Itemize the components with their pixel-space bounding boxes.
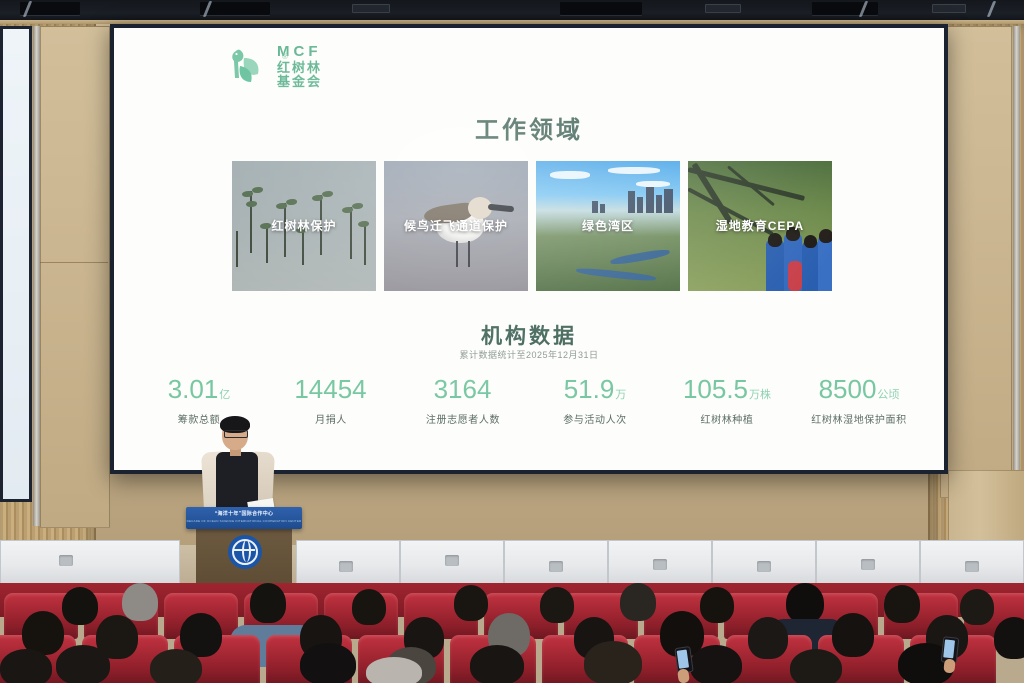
stage-front-panel xyxy=(712,540,816,586)
podium-sign-subtext: DECADE OF OCEAN SCIENCE INTERNATIONAL CO… xyxy=(186,519,302,523)
audience-head xyxy=(366,657,422,683)
audience-head xyxy=(584,641,642,683)
card-caption: 红树林保护 xyxy=(232,217,376,234)
audience-head xyxy=(994,617,1024,659)
stats-row: 3.01亿 筹款总额 14454 月捐人 3164 注册志愿者人数 51.9万 … xyxy=(142,376,916,426)
stat-value: 3164 xyxy=(434,374,492,404)
stat-item: 8500公顷 红树林湿地保护面积 xyxy=(803,376,915,426)
audience-head xyxy=(832,613,874,657)
wall-door-right xyxy=(940,26,1012,498)
audience-head xyxy=(786,583,824,623)
card-mangrove-protection: 红树林保护 xyxy=(232,161,376,291)
audience-head xyxy=(300,643,356,683)
audience-head xyxy=(748,617,788,659)
audience-head xyxy=(250,583,286,623)
card-wetland-education-cepa: 湿地教育CEPA xyxy=(688,161,832,291)
speaker-glasses xyxy=(224,430,248,438)
audience-head xyxy=(150,649,202,683)
audience-head xyxy=(690,645,742,683)
stat-item: 51.9万 参与活动人次 xyxy=(539,376,651,426)
mcf-logo: ® MCF 红树林 基金会 xyxy=(222,44,322,90)
auditorium-photo: ® MCF 红树林 基金会 工作领域 xyxy=(0,0,1024,683)
slide-title: 工作领域 xyxy=(114,110,944,145)
audience xyxy=(0,583,1024,683)
stat-label: 月捐人 xyxy=(275,411,387,426)
stage-front-panel xyxy=(504,540,608,586)
card-caption: 绿色湾区 xyxy=(536,217,680,234)
audience-head xyxy=(352,589,386,625)
stat-value: 3.01 xyxy=(168,374,219,404)
stat-label: 注册志愿者人数 xyxy=(407,411,519,426)
audience-head xyxy=(790,649,842,683)
podium-sign-panel: “海洋十年”国际合作中心 DECADE OF OCEAN SCIENCE INT… xyxy=(186,507,302,529)
audience-head xyxy=(620,583,656,621)
logo-text-cn-line2: 基金会 xyxy=(277,75,322,90)
card-caption: 候鸟迁飞通道保护 xyxy=(384,217,528,234)
stat-unit: 亿 xyxy=(219,389,230,401)
stage-front-panel xyxy=(0,540,180,586)
audience-head xyxy=(960,589,994,625)
audience-head xyxy=(700,587,734,623)
stage-front-panel xyxy=(296,540,400,586)
door-metal-strip xyxy=(33,26,40,526)
stat-item: 3164 注册志愿者人数 xyxy=(407,376,519,426)
audience-head xyxy=(0,649,52,683)
audience-hand xyxy=(677,668,690,683)
stat-unit: 万 xyxy=(615,389,626,401)
card-migratory-bird-flyway: 候鸟迁飞通道保护 xyxy=(384,161,528,291)
stat-value: 105.5 xyxy=(683,374,748,404)
ceiling xyxy=(0,0,1024,22)
door-metal-strip-right xyxy=(1013,26,1020,496)
egret-leaf-logo-icon: ® xyxy=(222,44,268,90)
stage-front-panel xyxy=(400,540,504,586)
stat-label: 红树林湿地保护面积 xyxy=(803,411,915,426)
window-left xyxy=(0,26,32,502)
podium-sign-text: “海洋十年”国际合作中心 xyxy=(186,510,302,517)
audience-head xyxy=(122,583,158,621)
stage-front-panel xyxy=(608,540,712,586)
stat-value: 51.9 xyxy=(564,374,615,404)
stat-value: 8500 xyxy=(819,374,877,404)
wall-door-left xyxy=(40,26,110,528)
door-seam xyxy=(40,262,108,263)
audience-head xyxy=(454,585,488,621)
registered-mark: ® xyxy=(282,52,288,61)
projection-screen: ® MCF 红树林 基金会 工作领域 xyxy=(114,28,944,470)
audience-head xyxy=(540,587,574,623)
audience-head xyxy=(884,585,920,623)
stat-label: 红树林种植 xyxy=(671,411,783,426)
stats-subheading: 累计数据统计至2025年12月31日 xyxy=(114,348,944,361)
logo-text-cn-line1: 红树林 xyxy=(277,61,322,76)
podium-globe-emblem-icon xyxy=(228,535,262,569)
audience-head xyxy=(470,645,524,683)
stage-front-panel xyxy=(816,540,920,586)
stat-value: 14454 xyxy=(294,374,366,404)
work-area-cards: 红树林保护 候鸟迁飞通道保护 xyxy=(232,161,832,291)
audience-head xyxy=(56,645,110,683)
card-caption: 湿地教育CEPA xyxy=(688,217,832,234)
stat-item: 14454 月捐人 xyxy=(275,376,387,426)
card-green-bay-area: 绿色湾区 xyxy=(536,161,680,291)
stage-front-panel xyxy=(920,540,1024,586)
stat-unit: 公顷 xyxy=(877,389,899,401)
audience-head xyxy=(62,587,98,625)
stat-item: 105.5万株 红树林种植 xyxy=(671,376,783,426)
stat-unit: 万株 xyxy=(749,389,771,401)
stat-label: 参与活动人次 xyxy=(539,411,651,426)
stats-heading: 机构数据 xyxy=(114,320,944,350)
